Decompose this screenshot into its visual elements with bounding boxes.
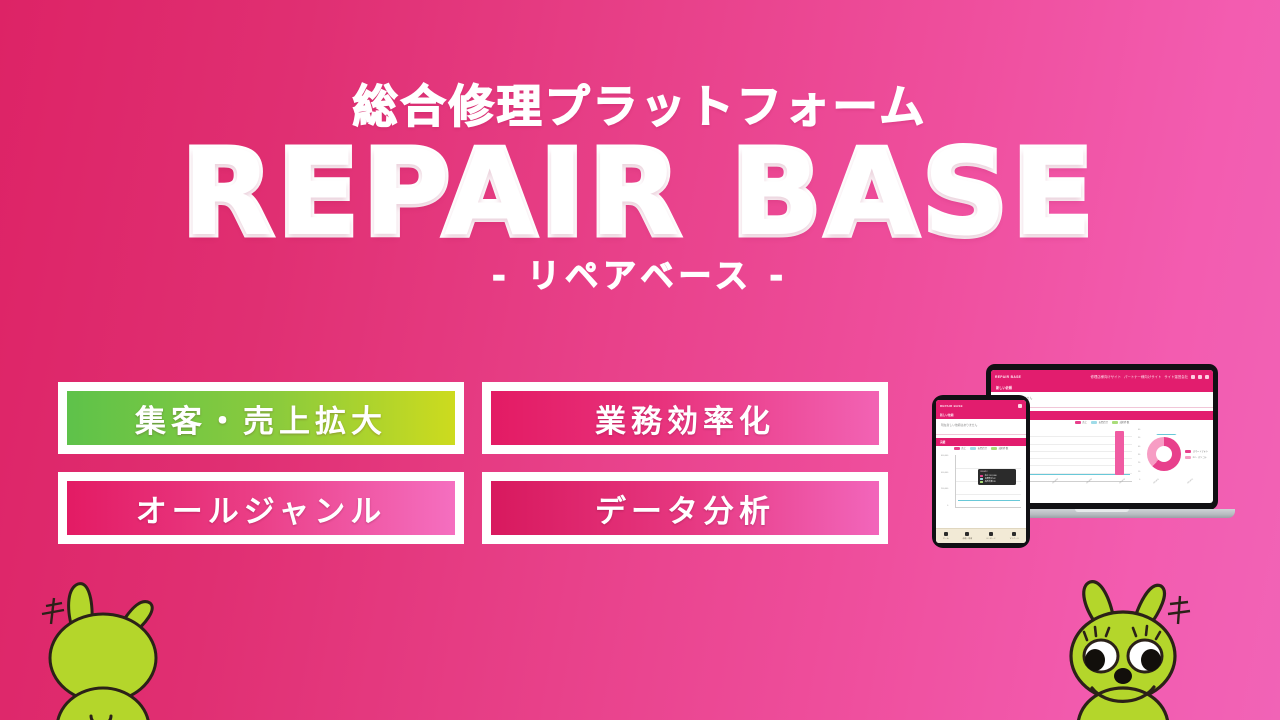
dashboard-section-new-request: 新しい依頼 xyxy=(991,383,1213,392)
legend-swatch xyxy=(954,447,960,450)
tab-label: マイページ xyxy=(1010,537,1019,540)
legend-item-contracts: 成約件数 xyxy=(991,446,1008,450)
donut-legend: スマートフォン PC・パソコン xyxy=(1185,449,1208,459)
legend-swatch xyxy=(1091,421,1097,424)
hero-text-block: 総合修理プラットフォーム REPAIR BASE - リペアベース - xyxy=(0,84,1280,292)
tablet-dashboard-header: REPAIR BASE xyxy=(936,400,1026,411)
legend-swatch xyxy=(970,447,976,450)
promo-banner: 総合修理プラットフォーム REPAIR BASE - リペアベース - 集客・売… xyxy=(0,0,1280,720)
tab-home[interactable]: ホーム xyxy=(943,532,949,540)
y2-tick: 60 xyxy=(1138,429,1140,431)
tablet-section-new-request: 新しい依頼 xyxy=(936,411,1026,419)
legend-item-inquiry: お問合せ xyxy=(1091,420,1108,424)
tablet-screen: REPAIR BASE 新しい依頼 現在新しい依頼はありません 実績 売上 お問… xyxy=(936,400,1026,543)
device-mockup-group: REPAIR BASE 修理店様向けサイト パートナー様向けサイト サイト運営会… xyxy=(928,362,1228,558)
tab-requests[interactable]: 依頼・見積 xyxy=(963,532,972,540)
hamburger-menu-icon[interactable] xyxy=(1018,404,1022,408)
bell-icon[interactable] xyxy=(1198,375,1202,379)
feature-pill-fill: データ分析 xyxy=(491,481,879,535)
donut-legend-item-smartphone: スマートフォン xyxy=(1185,449,1208,453)
chart-tooltip: 2024/12 売上 512,000 お問合せ 42 成約件数 28 xyxy=(978,469,1016,485)
avatar[interactable] xyxy=(1205,375,1209,379)
legend-label: お問合せ xyxy=(1099,420,1109,424)
y2-tick: 50 xyxy=(1138,437,1140,439)
mascot-pupil-right xyxy=(1141,649,1161,671)
divider xyxy=(936,434,1026,435)
mascot-mark-ki xyxy=(42,598,64,624)
donut-legend-item-pc: PC・パソコン xyxy=(1185,455,1208,459)
gridline xyxy=(956,494,1021,495)
feature-pill-alljanru[interactable]: オールジャンル xyxy=(58,472,464,544)
tablet-bar-line-chart: 2024/12 売上 512,000 お問合せ 42 成約件数 28 xyxy=(955,455,1021,508)
dashboard-logo: REPAIR BASE xyxy=(940,404,963,408)
mascot-right xyxy=(1030,570,1220,720)
y2-tick: 10 xyxy=(1138,471,1140,473)
mascot-pupil-left xyxy=(1085,649,1105,671)
laptop-hinge-notch xyxy=(1075,509,1129,512)
y2-tick: 0 xyxy=(1138,479,1140,481)
legend-label: 成約件数 xyxy=(999,446,1009,450)
line-series-baseline xyxy=(958,500,1020,501)
donut-chart xyxy=(1147,437,1181,471)
mascot-back-illustration xyxy=(8,576,198,720)
feature-pill-label: オールジャンル xyxy=(136,486,386,531)
feature-pill-fill: オールジャンル xyxy=(67,481,455,535)
legend-swatch xyxy=(1112,421,1118,424)
feature-pill-gyomu[interactable]: 業務効率化 xyxy=(482,382,888,454)
download-icon[interactable] xyxy=(1191,375,1195,379)
tablet-chart: 600,000 400,000 200,000 0 2024/12 売上 512… xyxy=(936,452,1026,508)
feature-pill-label: データ分析 xyxy=(595,486,775,531)
mascot-nose xyxy=(1114,668,1132,684)
legend-label: 売上 xyxy=(961,446,966,450)
tooltip-row: 成約件数 28 xyxy=(980,480,1014,483)
legend-swatch xyxy=(991,447,997,450)
tablet-empty-text: 現在新しい依頼はありません xyxy=(936,419,1026,431)
feature-pill-fill: 集客・売上拡大 xyxy=(67,391,455,445)
nav-item-shop[interactable]: 修理店様向けサイト xyxy=(1090,374,1121,379)
mail-icon xyxy=(989,532,993,536)
legend-item-contracts: 成約件数 xyxy=(1112,420,1129,424)
tooltip-title: 2024/12 xyxy=(980,471,1014,473)
legend-swatch xyxy=(980,478,983,480)
nav-item-company[interactable]: サイト運営会社 xyxy=(1164,374,1188,379)
tablet-chart-legend: 売上 お問合せ 成約件数 xyxy=(936,446,1026,450)
page-title: REPAIR BASE xyxy=(0,137,1280,249)
tablet-bottom-nav[interactable]: ホーム 依頼・見積 メッセージ マイページ xyxy=(936,528,1026,543)
feature-pill-shukyaku[interactable]: 集客・売上拡大 xyxy=(58,382,464,454)
dashboard-nav[interactable]: 修理店様向けサイト パートナー様向けサイト サイト運営会社 xyxy=(1090,374,1209,379)
tab-label: ホーム xyxy=(943,537,949,540)
y-tick: 200,000 xyxy=(941,488,948,490)
page-subtitle: - リペアベース - xyxy=(0,259,1280,292)
tab-mypage[interactable]: マイページ xyxy=(1010,532,1019,540)
y-tick: 400,000 xyxy=(941,472,948,474)
home-icon xyxy=(944,532,948,536)
feature-pill-grid: 集客・売上拡大 業務効率化 オールジャンル データ分析 xyxy=(58,382,888,544)
tooltip-value: 成約件数 28 xyxy=(985,480,996,483)
mascot-front-illustration xyxy=(1030,570,1220,720)
document-icon xyxy=(965,532,969,536)
y-tick: 600,000 xyxy=(941,455,948,457)
feature-pill-label: 集客・売上拡大 xyxy=(135,396,387,441)
legend-swatch xyxy=(1185,456,1191,459)
legend-item-inquiry: お問合せ xyxy=(970,446,987,450)
y-axis-labels: 600,000 400,000 200,000 0 xyxy=(941,455,949,507)
nav-item-partner[interactable]: パートナー様向けサイト xyxy=(1124,374,1161,379)
tablet-mockup: REPAIR BASE 新しい依頼 現在新しい依頼はありません 実績 売上 お問… xyxy=(932,395,1030,548)
legend-swatch xyxy=(980,481,983,483)
tablet-section-performance: 実績 xyxy=(936,438,1026,446)
page-tagline: 総合修理プラットフォーム xyxy=(0,84,1280,129)
legend-swatch xyxy=(1185,450,1191,453)
person-icon xyxy=(1012,532,1016,536)
legend-label: PC・パソコン xyxy=(1193,455,1207,459)
feature-pill-databunseki[interactable]: データ分析 xyxy=(482,472,888,544)
tab-label: メッセージ xyxy=(986,537,995,540)
legend-label: お問合せ xyxy=(978,446,988,450)
mascot-left xyxy=(8,576,198,720)
feature-pill-fill: 業務効率化 xyxy=(491,391,879,445)
feature-pill-label: 業務効率化 xyxy=(595,396,775,441)
tab-messages[interactable]: メッセージ xyxy=(986,532,995,540)
y-tick: 0 xyxy=(941,505,948,507)
dashboard-header: REPAIR BASE 修理店様向けサイト パートナー様向けサイト サイト運営会… xyxy=(991,370,1213,383)
dashboard-logo: REPAIR BASE xyxy=(995,375,1021,379)
mascot-mark-mo xyxy=(1168,596,1190,624)
legend-label: 成約件数 xyxy=(1120,420,1130,424)
tab-label: 依頼・見積 xyxy=(963,537,972,540)
legend-label: スマートフォン xyxy=(1193,449,1208,453)
legend-item-sales: 売上 xyxy=(1075,420,1087,424)
legend-label: 売上 xyxy=(1082,420,1087,424)
y2-tick: 20 xyxy=(1138,462,1140,464)
laptop-camera-notch xyxy=(1082,365,1122,370)
legend-item-sales: 売上 xyxy=(954,446,966,450)
legend-swatch xyxy=(980,475,983,477)
bar-series-latest xyxy=(1115,431,1124,475)
legend-swatch xyxy=(1075,421,1081,424)
